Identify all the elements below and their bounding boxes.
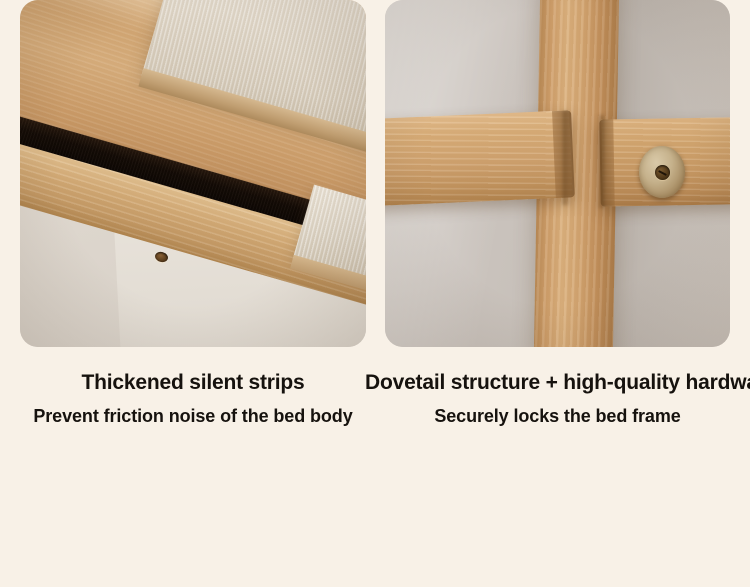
cam-bolt-plug bbox=[638, 145, 685, 198]
screw-slot bbox=[658, 169, 667, 175]
feature-subtitle-silent-strips: Prevent friction noise of the bed body bbox=[0, 406, 386, 427]
joint-seam-shadow bbox=[597, 115, 604, 209]
silent-strip-scene bbox=[20, 0, 366, 347]
bed-rail-left bbox=[385, 110, 573, 206]
feature-title-silent-strips: Thickened silent strips bbox=[0, 371, 386, 395]
feature-title-dovetail-hardware: Dovetail structure + high-quality hardwa… bbox=[365, 371, 730, 395]
caption-title-row: Thickened silent strips Dovetail structu… bbox=[0, 366, 750, 404]
feature-photo-dovetail-hardware bbox=[385, 0, 730, 347]
feature-photo-silent-strips bbox=[20, 0, 366, 347]
caption-subtitle-row: Prevent friction noise of the bed body S… bbox=[0, 404, 750, 442]
product-feature-panel: Thickened silent strips Dovetail structu… bbox=[0, 0, 750, 587]
dovetail-joint-scene bbox=[385, 0, 730, 347]
feature-captions: Thickened silent strips Dovetail structu… bbox=[0, 366, 750, 442]
feature-subtitle-dovetail-hardware: Securely locks the bed frame bbox=[385, 406, 730, 427]
wood-grain-texture bbox=[385, 110, 573, 206]
screw-head-icon bbox=[654, 165, 669, 180]
joint-seam-shadow bbox=[563, 111, 570, 205]
